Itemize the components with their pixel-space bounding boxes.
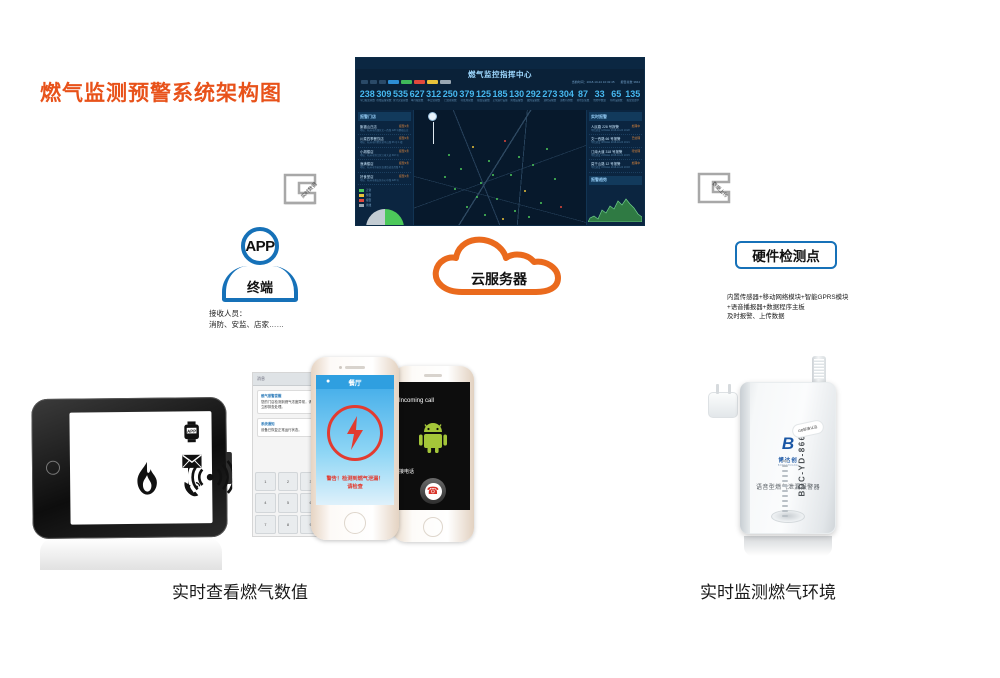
brand-name-pinyin: BODACHUANG (775, 464, 801, 467)
earpiece-speaker (424, 374, 442, 377)
stat-label: 停用设备数 (608, 99, 625, 103)
filter-chip-all[interactable] (361, 80, 368, 84)
app-terminal-head: APP (241, 227, 279, 265)
legend-item: 报警 (359, 198, 411, 202)
page-title: 燃气监测预警系统架构图 (40, 77, 282, 107)
stat-card[interactable]: 273 巡检完成数 (542, 89, 559, 108)
dashboard-right-panel: 实时报警 人民路 228 号报警处理中 甲烷浓度 12%LEL 2018-10-… (586, 110, 644, 225)
stat-card[interactable]: 185 正常运行设备 (492, 89, 509, 108)
alert-indicator (327, 405, 383, 461)
alarm-trend-sparkline (588, 196, 642, 222)
legend-label: 正常 (366, 188, 371, 192)
alarm-detail: 甲烷浓度 12%LEL 2018-10-24 10:28 (591, 129, 640, 132)
stat-card[interactable]: 250 已处理总数 (442, 89, 459, 108)
app-label: APP (245, 238, 274, 255)
stat-label: 本月报警数 (409, 99, 426, 103)
legend-item: 离线 (359, 203, 411, 207)
dashboard-filter-chips[interactable] (361, 80, 451, 84)
stat-value: 304 (558, 89, 575, 99)
keypad-key[interactable]: 7 (255, 515, 276, 534)
filter-chip-online[interactable] (370, 80, 377, 84)
stat-card[interactable]: 65 停用设备数 (608, 89, 625, 108)
receivers-note: 接收人员： 消防、安监、店家…… (209, 308, 284, 330)
legend-label: 离线 (366, 203, 371, 207)
store-alarm-count: 报警1条 (399, 174, 409, 179)
stat-card[interactable]: 130 离线设备数 (508, 89, 525, 108)
alarm-store-row[interactable]: 渔满楼店报警3条 地址：杭州市余杭区良渚街道金昌路 5 号 (358, 160, 411, 172)
data-flow-arrow-left: 实时数据 (281, 169, 333, 209)
store-address: 地址：杭州市西湖区文一西路 128 号聚福山庄 (360, 129, 409, 132)
map-marker-pin[interactable] (428, 112, 437, 121)
hardware-desc-line-3: 及时报警、上传数据 (727, 312, 848, 322)
stat-value: 535 (392, 89, 409, 99)
alarm-detail: 甲烷浓度 21%LEL 2018-10-24 10:15 (591, 154, 640, 157)
legend-label: 预警 (366, 193, 371, 197)
answer-call-label: 接电话 (399, 468, 414, 475)
alarm-store-row[interactable]: 好食堂店报警1条 地址：杭州市萧山区市心中路 228 号 (358, 173, 411, 185)
device-status-pie-chart (366, 209, 404, 226)
data-flow-arrow-right: 数据上传 (695, 168, 747, 208)
message-bubble[interactable]: 系统通知 设备已恢复正常运行状态。 (257, 418, 319, 437)
keypad-key[interactable]: 2 (278, 472, 299, 491)
legend-swatch (359, 199, 364, 202)
keypad-key[interactable]: 8 (278, 515, 299, 534)
realtime-alarm-row[interactable]: 人民路 228 号报警处理中 甲烷浓度 12%LEL 2018-10-24 10… (589, 123, 642, 135)
city-map[interactable] (414, 110, 586, 225)
stat-value: 273 (542, 89, 559, 99)
stat-value: 379 (459, 89, 476, 99)
hardware-description: 内置传感器+移动网络模块+智能GPRS模块 +语音播报器+数据程序主板 及时报警… (727, 293, 848, 322)
store-address: 地址：杭州市余杭区良渚街道金昌路 5 号 (360, 166, 409, 169)
stat-card[interactable]: 135 报警处置中 (625, 89, 642, 108)
statusbar-label: 消息 (257, 376, 265, 382)
home-button[interactable] (46, 461, 60, 475)
dashboard-left-panel: 报警门店 聚福山庄店报警1条 地址：杭州市西湖区文一西路 128 号聚福山庄 川… (356, 110, 414, 225)
dashboard-timestamp: 当前时间：2018-10-24 10:32:45 (572, 80, 615, 84)
receivers-label: 接收人员： (209, 308, 284, 319)
legend-swatch (359, 194, 364, 197)
dashboard-title: 燃气监控指挥中心 (356, 69, 644, 80)
gas-leak-detector: BDC-YD-8668 GB标准认证 B 博达创 BODACHUANG 语音型燃… (700, 350, 890, 550)
hardware-desc-line-1: 内置传感器+移动网络模块+智能GPRS模块 (727, 293, 848, 303)
stat-label: 故障设备数 (525, 99, 542, 103)
stat-label: 离线设备数 (508, 99, 525, 103)
earpiece-speaker (345, 366, 365, 369)
envelope-icon (182, 454, 202, 468)
panel-header: 实时报警 (589, 112, 642, 121)
stat-label: 今日报警总数 (359, 99, 376, 103)
stat-card[interactable]: 33 维修中数量 (591, 89, 608, 108)
stat-value: 125 (475, 89, 492, 99)
trend-panel-header: 报警趋势 (589, 176, 642, 185)
legend-item: 预警 (359, 193, 411, 197)
message-title: 系统通知 (261, 422, 315, 427)
brand-name: 博达创 (775, 456, 801, 464)
stat-label: 在线设备总数 (376, 99, 393, 103)
detector-body: BDC-YD-8668 GB标准认证 B 博达创 BODACHUANG 语音型燃… (740, 382, 836, 534)
alarm-store-row[interactable]: 聚福山庄店报警1条 地址：杭州市西湖区文一西路 128 号聚福山庄 (358, 123, 411, 135)
store-address: 地址：杭州市拱墅区莫干山路 66 号 1 楼 (360, 141, 409, 144)
realtime-alarm-row[interactable]: 莫干山路 12 号报警处理中 甲烷浓度 15%LEL 2018-10-24 10… (589, 160, 642, 172)
front-camera (339, 366, 342, 369)
dashboard-meta: 当前时间：2018-10-24 10:32:45 报警总数 3844 (572, 80, 640, 84)
stat-label: 巡检完成数 (542, 99, 559, 103)
caption-left: 实时查看燃气数值 (172, 578, 308, 603)
monitoring-dashboard[interactable]: 燃气监控指挥中心 当前时间：2018-10-24 10:32:45 报警总数 3… (355, 57, 645, 226)
cloud-server-label: 云服务器 (428, 269, 570, 289)
stat-card[interactable]: 535 累计安装总数 (392, 89, 409, 108)
store-address: 地址：杭州市萧山区市心中路 228 号 (360, 179, 409, 182)
alert-phone[interactable]: ● 餐厅 警告！检测到燃气泄漏！ 请检查 (311, 357, 399, 540)
incoming-call-phone[interactable]: Incoming call 接电话 ☎ (392, 366, 474, 542)
stat-value: 130 (508, 89, 525, 99)
filter-chip-offline[interactable] (379, 80, 386, 84)
plug-prong (716, 384, 719, 394)
alert-message: 警告！检测到燃气泄漏！ 请检查 (320, 475, 390, 491)
legend-swatch (359, 204, 364, 207)
stat-card[interactable]: 304 巡检待办数 (558, 89, 575, 108)
stat-label: 待处理总数 (459, 99, 476, 103)
plug-prong (728, 384, 731, 394)
store-address: 地址：杭州市滨江区江南大道 318 号 (360, 154, 409, 157)
stat-value: 627 (409, 89, 426, 99)
flame-icon (132, 462, 162, 496)
message-body: 设备已恢复正常运行状态。 (261, 428, 302, 432)
home-button[interactable] (423, 517, 443, 537)
detector-reflection (744, 536, 832, 556)
alert-line-2: 请检查 (320, 483, 390, 491)
terminal-label: 终端 (247, 277, 273, 296)
message-title: 燃气报警提醒 (261, 394, 315, 399)
keypad-key[interactable]: 5 (278, 493, 299, 512)
call-screen[interactable]: Incoming call 接电话 ☎ (396, 382, 470, 510)
incoming-call-label: Incoming call (399, 398, 434, 404)
hardware-detection-point-box: 硬件检测点 (735, 241, 837, 269)
stat-value: 292 (525, 89, 542, 99)
stat-card[interactable]: 627 本月报警数 (409, 89, 426, 108)
stat-value: 135 (625, 89, 642, 99)
filter-chip-fault[interactable] (414, 80, 425, 84)
keypad-key[interactable]: 4 (255, 493, 276, 512)
app-terminal-body: 终端 (222, 266, 298, 302)
android-robot-icon (416, 420, 450, 454)
stat-card[interactable]: 312 本日处理数 (425, 89, 442, 108)
stat-card[interactable]: 379 待处理总数 (459, 89, 476, 108)
panel-header: 报警门店 (358, 112, 411, 121)
home-button[interactable] (344, 512, 366, 534)
ringing-phone-icon (182, 480, 202, 498)
legend-label: 报警 (366, 198, 371, 202)
stat-card[interactable]: 87 新增安装数 (575, 89, 592, 108)
stat-label: 维修中数量 (591, 99, 608, 103)
stat-value: 238 (359, 89, 376, 99)
stat-card[interactable]: 309 在线设备总数 (376, 89, 393, 108)
dashboard-stat-strip: 238 今日报警总数 309 在线设备总数 535 累计安装总数 627 本月报… (359, 89, 641, 108)
app-terminal-icon: APP 终端 (222, 227, 298, 302)
logo-mark-icon: B (775, 432, 801, 456)
receivers-list: 消防、安监、店家…… (209, 319, 284, 330)
alert-line-1: 警告！检测到燃气泄漏！ (320, 475, 390, 483)
caption-right: 实时监测燃气环境 (700, 578, 836, 603)
store-alarm-count: 报警1条 (399, 149, 409, 154)
stat-label: 报警设备数 (475, 99, 492, 103)
dashboard-body: 报警门店 聚福山庄店报警1条 地址：杭州市西湖区文一西路 128 号聚福山庄 川… (356, 110, 644, 225)
stat-value: 250 (442, 89, 459, 99)
pie-legend: 正常 预警 报警 离线 (359, 188, 411, 207)
message-body: 您的门店检测到燃气浓度异常，请立即排查处理。 (261, 400, 312, 409)
alarm-status: 处理中 (632, 161, 640, 166)
hangup-button[interactable]: ☎ (420, 478, 446, 504)
speaker-grille (771, 510, 805, 523)
cloud-server-icon: 云服务器 (428, 236, 570, 298)
smartwatch-app-icon: APP (183, 421, 201, 442)
stat-label: 正常运行设备 (492, 99, 509, 103)
hardware-box-label: 硬件检测点 (752, 245, 820, 265)
stat-card[interactable]: 292 故障设备数 (525, 89, 542, 108)
stat-card[interactable]: 125 报警设备数 (475, 89, 492, 108)
detector-left-edge (740, 382, 750, 534)
sensor-vents (782, 460, 788, 520)
filter-chip-disabled[interactable] (440, 80, 451, 84)
stat-value: 65 (608, 89, 625, 99)
stat-label: 新增安装数 (575, 99, 592, 103)
dashboard-topbar (356, 58, 644, 69)
brand-logo: B 博达创 BODACHUANG (775, 432, 801, 467)
alarm-status: 已处理 (632, 136, 640, 141)
alarm-status: 处理中 (632, 124, 640, 129)
alarm-detail: 甲烷浓度 15%LEL 2018-10-24 10:03 (591, 166, 640, 169)
stat-label: 报警处置中 (625, 99, 642, 103)
stat-label: 累计安装总数 (392, 99, 409, 103)
alarm-store-row[interactable]: 小湘楼店报警1条 地址：杭州市滨江区江南大道 318 号 (358, 148, 411, 160)
alarm-store-row[interactable]: 川菜四季餐饮店报警2条 地址：杭州市拱墅区莫干山路 66 号 1 楼 (358, 135, 411, 147)
message-bubble[interactable]: 燃气报警提醒 您的门店检测到燃气浓度异常，请立即排查处理。 (257, 390, 319, 414)
stat-label: 巡检待办数 (558, 99, 575, 103)
left-horizontal-phone[interactable]: APP (31, 397, 227, 539)
legend-item: 正常 (359, 188, 411, 192)
realtime-alarm-row[interactable]: 江南大道 318 号报警待处理 甲烷浓度 21%LEL 2018-10-24 1… (589, 148, 642, 160)
stat-value: 185 (492, 89, 509, 99)
keypad-key[interactable]: 1 (255, 472, 276, 491)
product-name: 语音型燃气泄漏报警器 (740, 482, 836, 491)
filter-chip-warning[interactable] (427, 80, 438, 84)
alarm-status: 待处理 (632, 149, 640, 154)
svg-text:APP: APP (187, 429, 196, 434)
notification-channel-icons: APP (182, 421, 203, 498)
realtime-alarm-row[interactable]: 文一西路 66 号报警已处理 甲烷浓度 08%LEL 2018-10-24 10… (589, 135, 642, 147)
power-plug (708, 392, 738, 418)
filter-chip-normal[interactable] (401, 80, 412, 84)
stat-label: 本日处理数 (425, 99, 442, 103)
stat-card[interactable]: 238 今日报警总数 (359, 89, 376, 108)
location-pin-icon[interactable]: ● (326, 378, 330, 385)
hardware-desc-line-2: +语音播报器+数据程序主板 (727, 303, 848, 313)
navbar-title: 餐厅 (349, 377, 362, 387)
alert-app-screen[interactable]: ● 餐厅 警告！检测到燃气泄漏！ 请检查 (316, 375, 394, 505)
stat-value: 87 (575, 89, 592, 99)
stat-label: 已处理总数 (442, 99, 459, 103)
filter-chip-alarm[interactable] (388, 80, 399, 84)
left-phone-reflection (40, 538, 222, 570)
left-phone-screen[interactable]: APP (69, 411, 212, 524)
dashboard-alarm-total: 报警总数 3844 (620, 80, 640, 84)
alarm-detail: 甲烷浓度 08%LEL 2018-10-24 10:21 (591, 141, 640, 144)
stat-value: 309 (376, 89, 393, 99)
hangup-phone-icon: ☎ (425, 483, 442, 500)
legend-swatch (359, 189, 364, 192)
app-navbar: ● 餐厅 (316, 375, 394, 389)
lightning-bolt-icon (345, 416, 365, 450)
stat-value: 312 (425, 89, 442, 99)
stat-value: 33 (591, 89, 608, 99)
store-name: 好食堂店 (360, 174, 374, 179)
